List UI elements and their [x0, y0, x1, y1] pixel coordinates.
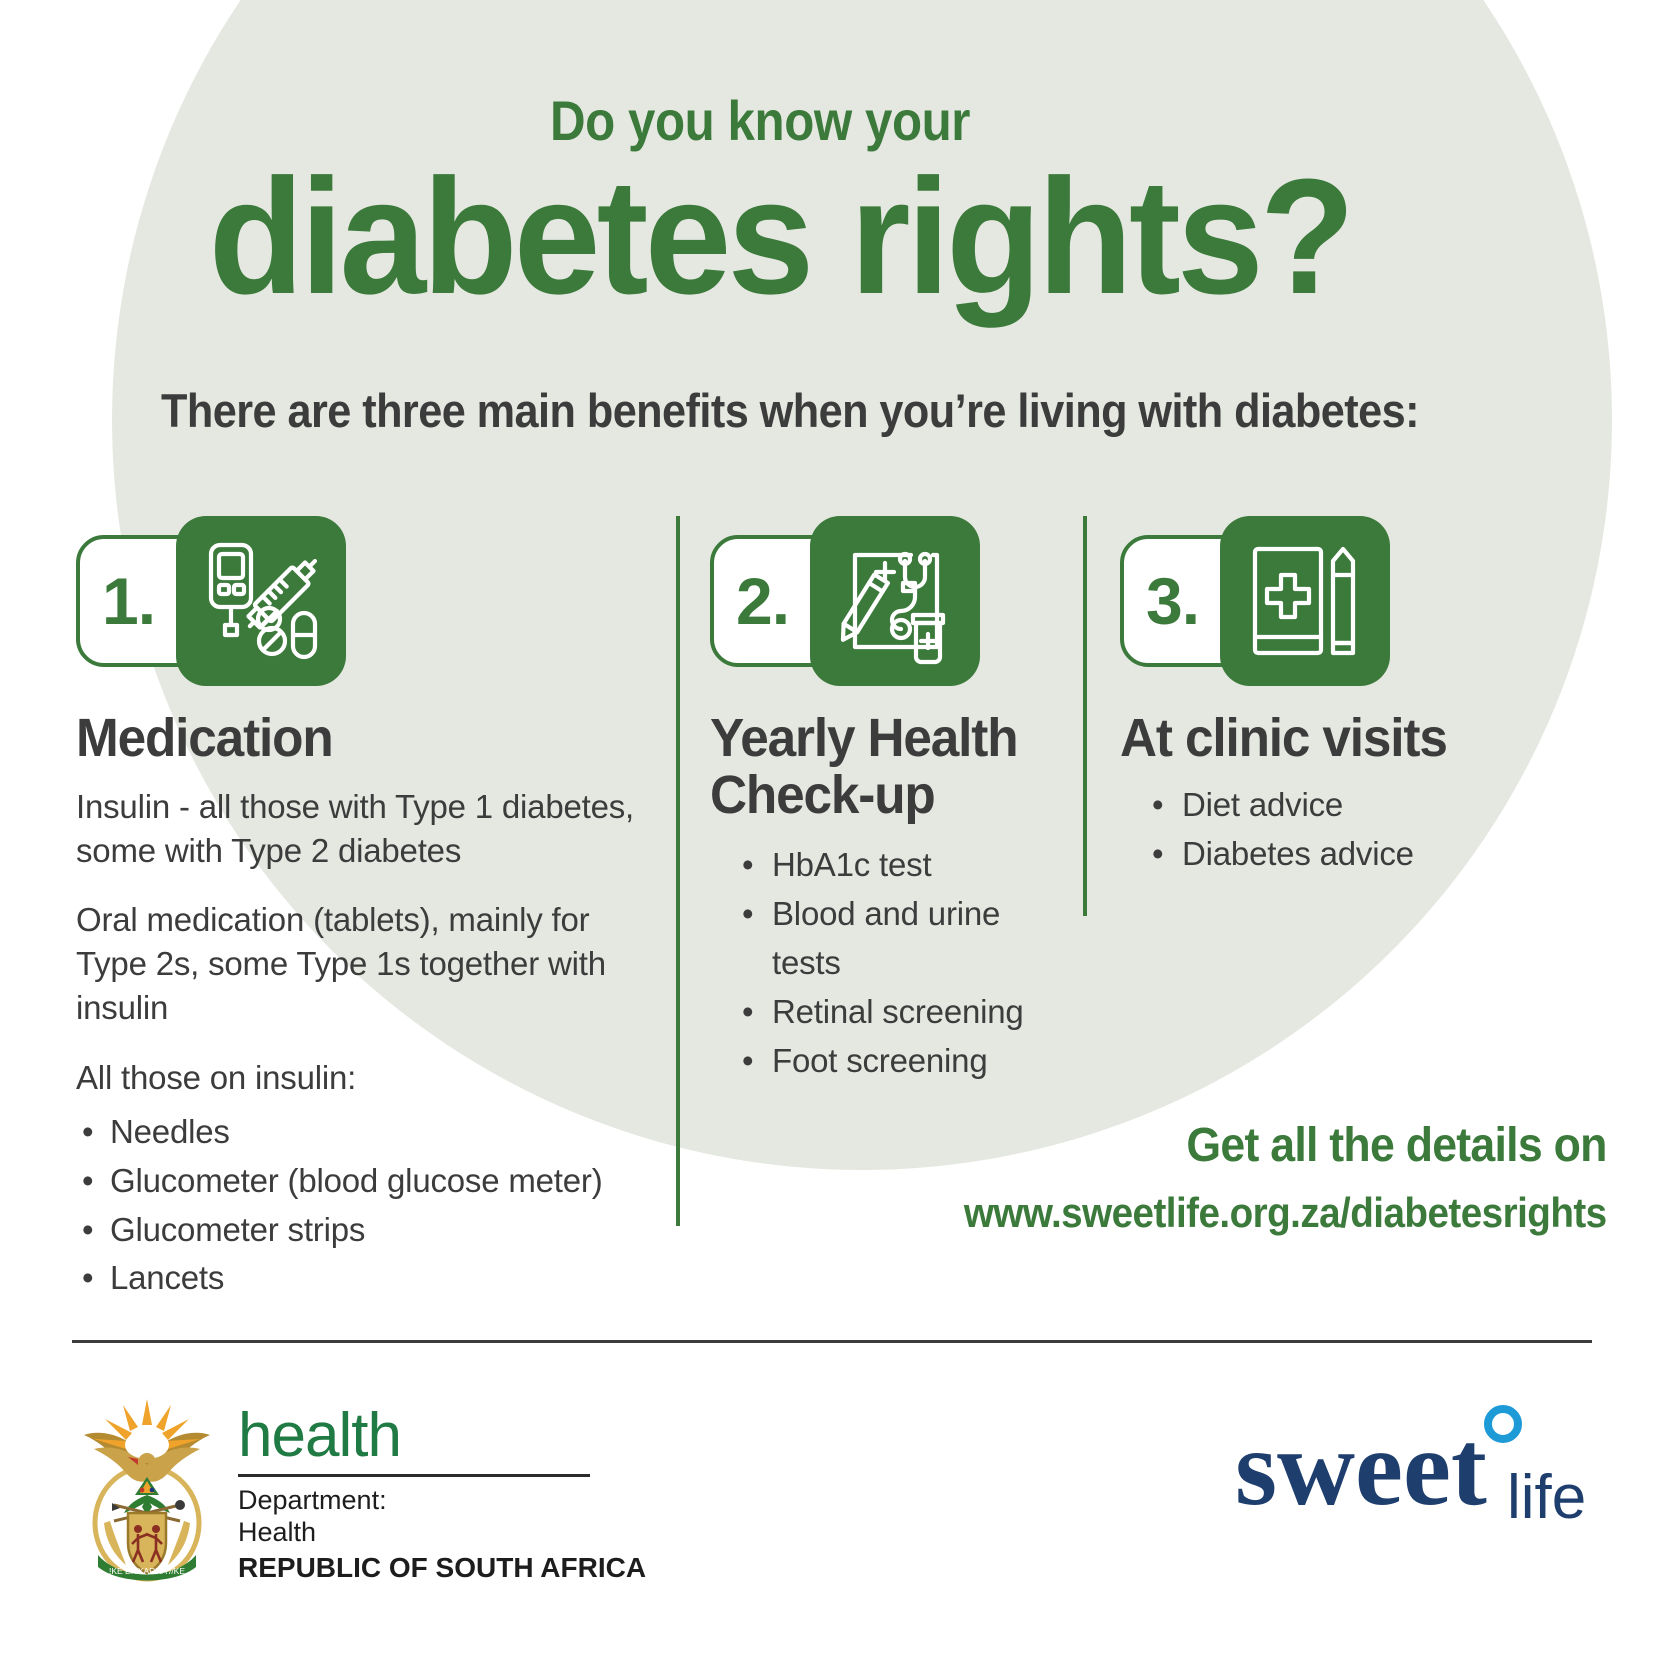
benefit-column-clinic-visits: 3. At clinic visits Diet advice Diabetes… — [1120, 516, 1520, 878]
gov-wordmark: health — [238, 1407, 646, 1466]
cta-url[interactable]: www.sweetlife.org.za/diabetesrights — [964, 1189, 1607, 1237]
badge-row-2: 2. — [710, 516, 1065, 686]
sweetlife-wordmark-icon: sweet life — [1235, 1400, 1605, 1530]
list-item: Diet advice — [1178, 781, 1520, 830]
badge-row-1: 1. — [76, 516, 656, 686]
benefit-column-medication: 1. — [76, 516, 656, 1303]
medication-bullet-list: Needles Glucometer (blood glucose meter)… — [76, 1108, 656, 1303]
list-item: Glucometer strips — [106, 1206, 656, 1255]
page-title: diabetes rights? — [39, 155, 1521, 319]
column-divider-1 — [676, 516, 680, 1226]
footer-divider — [72, 1340, 1592, 1343]
gov-country-label: REPUBLIC OF SOUTH AFRICA — [238, 1551, 646, 1585]
sweetlife-logo[interactable]: sweet life — [1235, 1400, 1605, 1535]
yearly-checkup-bullet-list: HbA1c test Blood and urine tests Retinal… — [710, 841, 1065, 1085]
gov-department-name: Health — [238, 1517, 646, 1549]
list-item: Needles — [106, 1108, 656, 1157]
gov-department-label: Department: — [238, 1485, 646, 1517]
medication-list-intro: All those on insulin: — [76, 1056, 656, 1100]
infographic-poster: Do you know your diabetes rights? There … — [0, 0, 1667, 1667]
coat-of-arms-motto: !KE E: /XARRA //KE — [109, 1566, 185, 1576]
clipboard-stethoscope-pencil-bottle-icon — [810, 516, 980, 686]
list-item: Diabetes advice — [1178, 830, 1520, 879]
section-title-clinic-visits: At clinic visits — [1120, 710, 1500, 767]
list-item: Foot screening — [768, 1037, 1065, 1086]
gov-wordmark-rule — [238, 1474, 590, 1477]
glucometer-syringe-pills-icon — [176, 516, 346, 686]
call-to-action: Get all the details on www.sweetlife.org… — [908, 1118, 1607, 1237]
sweetlife-word-sweet: sweet — [1235, 1409, 1487, 1528]
list-item: HbA1c test — [768, 841, 1065, 890]
section-title-medication: Medication — [76, 710, 627, 767]
badge-row-3: 3. — [1120, 516, 1520, 686]
sweetlife-word-life: life — [1507, 1463, 1586, 1530]
list-item: Retinal screening — [768, 988, 1065, 1037]
clinic-visits-bullet-list: Diet advice Diabetes advice — [1120, 781, 1520, 879]
gov-logo-text: health Department: Health REPUBLIC OF SO… — [238, 1395, 646, 1584]
medical-book-pencil-icon — [1220, 516, 1390, 686]
list-item: Lancets — [106, 1254, 656, 1303]
list-item: Glucometer (blood glucose meter) — [106, 1157, 656, 1206]
section-title-yearly-checkup: Yearly Health Check-up — [710, 710, 1047, 823]
medication-paragraph-2: Oral medication (tablets), mainly for Ty… — [76, 898, 656, 1030]
column-divider-2 — [1083, 516, 1087, 916]
list-item: Blood and urine tests — [768, 890, 1065, 988]
cta-headline: Get all the details on — [957, 1118, 1607, 1173]
sa-department-of-health-logo: !KE E: /XARRA //KE health Department: He… — [76, 1395, 646, 1585]
benefit-column-yearly-checkup: 2. — [710, 516, 1065, 1086]
medication-paragraph-1: Insulin - all those with Type 1 diabetes… — [76, 785, 656, 873]
south-africa-coat-of-arms-icon: !KE E: /XARRA //KE — [76, 1395, 218, 1585]
page-kicker: Do you know your — [91, 88, 1429, 153]
page-subtitle: There are three main benefits when you’r… — [63, 383, 1517, 438]
